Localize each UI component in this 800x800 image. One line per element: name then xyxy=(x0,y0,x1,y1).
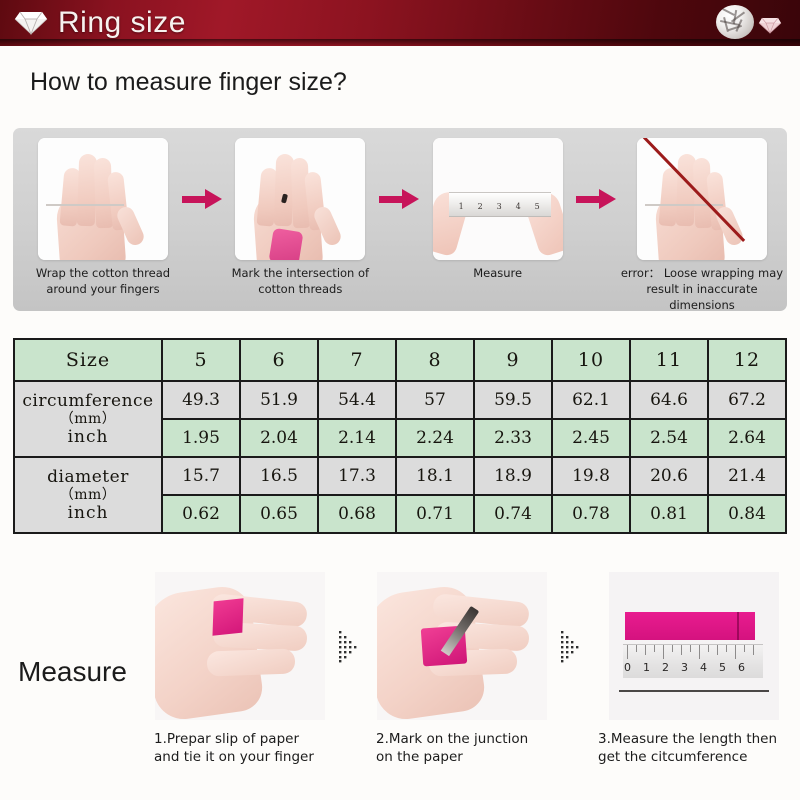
row-label-diameter-unit: （mm） xyxy=(15,487,161,504)
ruler-tick-4: 4 xyxy=(700,661,707,674)
hand-marking-thread-photo xyxy=(235,138,365,260)
cell-circumference-mm-8: 57 xyxy=(396,381,474,419)
cell-diameter-mm-7: 17.3 xyxy=(318,457,396,495)
row-label-diameter-main: diameter xyxy=(47,467,129,487)
tape-number: 2 xyxy=(478,202,483,211)
step-2: Mark the intersection of cotton threads xyxy=(222,138,378,298)
measure-step-1-caption: 1.Prepar slip of paper and tie it on you… xyxy=(150,730,330,766)
measure-steps-panel: Wrap the cotton thread around your finge… xyxy=(13,128,787,311)
cell-circumference-inch-12: 2.64 xyxy=(708,419,786,457)
table-header-size-8: 8 xyxy=(396,339,474,381)
measure-section-title: Measure xyxy=(18,656,127,688)
measure-section: Measure 1.Prepar slip of paper and tie i… xyxy=(0,560,800,800)
measure-step-1-line2: and tie it on your finger xyxy=(154,748,330,766)
hand-with-thread-photo xyxy=(38,138,168,260)
cell-circumference-inch-9: 2.33 xyxy=(474,419,552,457)
cell-circumference-inch-11: 2.54 xyxy=(630,419,708,457)
step-1-caption-line1: Wrap the cotton thread xyxy=(25,266,181,282)
cell-diameter-mm-12: 21.4 xyxy=(708,457,786,495)
page-title: Ring size xyxy=(58,8,186,38)
row-label-circumference: circumference （mm） inch xyxy=(14,381,162,457)
step-1-caption-line2: around your fingers xyxy=(25,282,181,298)
step-4-caption-line1: error： Loose wrapping may xyxy=(617,266,787,282)
measure-step-2-line2: on the paper xyxy=(376,748,552,766)
tape-number: 5 xyxy=(535,202,540,211)
tape-number: 4 xyxy=(516,202,521,211)
ruler-tick-0: 0 xyxy=(624,661,631,674)
step-4-caption-line2: result in inaccurate dimensions xyxy=(617,282,787,314)
cell-diameter-mm-11: 20.6 xyxy=(630,457,708,495)
table-header-size-9: 9 xyxy=(474,339,552,381)
paper-strip-on-ruler-photo: 0 1 2 3 4 5 6 xyxy=(609,572,779,720)
measure-step-3-line1: 3.Measure the length then xyxy=(598,730,794,748)
measure-step-1: 1.Prepar slip of paper and tie it on you… xyxy=(150,572,330,766)
measure-step-3-line2: get the citcumference xyxy=(598,748,794,766)
cell-diameter-mm-10: 19.8 xyxy=(552,457,630,495)
table-header-size-10: 10 xyxy=(552,339,630,381)
table-row-circumference-mm: circumference （mm） inch 49.3 51.9 54.4 5… xyxy=(14,381,786,419)
cell-circumference-mm-7: 54.4 xyxy=(318,381,396,419)
measure-step-2-line1: 2.Mark on the junction xyxy=(376,730,552,748)
measure-step-2: 2.Mark on the junction on the paper xyxy=(372,572,552,766)
cell-diameter-inch-5: 0.62 xyxy=(162,495,240,533)
cell-circumference-mm-11: 64.6 xyxy=(630,381,708,419)
ruler-tick-2: 2 xyxy=(662,661,669,674)
diamond-photo xyxy=(716,5,754,39)
step-4-caption: error： Loose wrapping may result in inac… xyxy=(617,266,787,314)
cell-circumference-mm-9: 59.5 xyxy=(474,381,552,419)
cell-diameter-inch-7: 0.68 xyxy=(318,495,396,533)
cell-diameter-inch-8: 0.71 xyxy=(396,495,474,533)
cell-diameter-inch-12: 0.84 xyxy=(708,495,786,533)
ruler-tick-3: 3 xyxy=(681,661,688,674)
arrow-3 xyxy=(576,138,617,260)
header-right-graphics xyxy=(708,2,790,44)
step-3-caption-line1: Measure xyxy=(420,266,576,282)
dotted-arrow-right-icon xyxy=(330,572,372,720)
cell-circumference-mm-6: 51.9 xyxy=(240,381,318,419)
dotted-arrow-right-icon xyxy=(552,572,594,720)
section-title: How to measure finger size? xyxy=(30,68,800,97)
table-header-size-7: 7 xyxy=(318,339,396,381)
row-label-circumference-inch: inch xyxy=(15,427,161,447)
cell-diameter-mm-6: 16.5 xyxy=(240,457,318,495)
page-header: Ring size xyxy=(0,0,800,46)
diamond-icon xyxy=(14,10,48,36)
loose-wrapping-error-photo xyxy=(637,138,767,260)
arrow-2 xyxy=(378,138,419,260)
step-1: Wrap the cotton thread around your finge… xyxy=(25,138,181,298)
step-1-caption: Wrap the cotton thread around your finge… xyxy=(25,266,181,298)
step-3: 1 2 3 4 5 Measure xyxy=(420,138,576,282)
ruler-tick-5: 5 xyxy=(719,661,726,674)
row-label-diameter-inch: inch xyxy=(15,503,161,523)
cell-diameter-inch-9: 0.74 xyxy=(474,495,552,533)
table-header-size-12: 12 xyxy=(708,339,786,381)
row-label-diameter: diameter （mm） inch xyxy=(14,457,162,533)
table-row-diameter-mm: diameter （mm） inch 15.7 16.5 17.3 18.1 1… xyxy=(14,457,786,495)
cell-circumference-inch-8: 2.24 xyxy=(396,419,474,457)
table-header-size-5: 5 xyxy=(162,339,240,381)
table-header-size-11: 11 xyxy=(630,339,708,381)
cell-diameter-inch-11: 0.81 xyxy=(630,495,708,533)
cell-circumference-mm-12: 67.2 xyxy=(708,381,786,419)
cell-diameter-inch-10: 0.78 xyxy=(552,495,630,533)
row-label-circumference-unit: （mm） xyxy=(15,411,161,428)
cell-circumference-inch-6: 2.04 xyxy=(240,419,318,457)
measure-step-3: 0 1 2 3 4 5 6 3.Measure the length then … xyxy=(594,572,794,766)
table-header-size-6: 6 xyxy=(240,339,318,381)
arrow-right-icon xyxy=(576,189,616,209)
cell-circumference-inch-7: 2.14 xyxy=(318,419,396,457)
table-header-size: Size xyxy=(14,339,162,381)
measure-step-3-caption: 3.Measure the length then get the citcum… xyxy=(594,730,794,766)
table-header-row: Size 5 6 7 8 9 10 11 12 xyxy=(14,339,786,381)
ruler-tick-6: 6 xyxy=(738,661,745,674)
measure-step-2-caption: 2.Mark on the junction on the paper xyxy=(372,730,552,766)
cell-diameter-inch-6: 0.65 xyxy=(240,495,318,533)
step-3-caption: Measure xyxy=(420,266,576,282)
ring-size-table: Size 5 6 7 8 9 10 11 12 circumference （m… xyxy=(13,338,787,534)
cell-circumference-mm-5: 49.3 xyxy=(162,381,240,419)
cell-diameter-mm-9: 18.9 xyxy=(474,457,552,495)
arrow-1 xyxy=(181,138,222,260)
measure-steps-row: 1.Prepar slip of paper and tie it on you… xyxy=(150,572,794,766)
ruler-tick-1: 1 xyxy=(643,661,650,674)
tape-measure-photo: 1 2 3 4 5 xyxy=(433,138,563,260)
cell-circumference-mm-10: 62.1 xyxy=(552,381,630,419)
row-label-circumference-main: circumference xyxy=(22,391,153,411)
step-2-caption-line1: Mark the intersection of xyxy=(222,266,378,282)
ruler: 0 1 2 3 4 5 6 xyxy=(623,644,763,678)
arrow-right-icon xyxy=(182,189,222,209)
cell-circumference-inch-5: 1.95 xyxy=(162,419,240,457)
cell-diameter-mm-5: 15.7 xyxy=(162,457,240,495)
step-2-caption-line2: cotton threads xyxy=(222,282,378,298)
marking-paper-with-pen-photo xyxy=(377,572,547,720)
cell-circumference-inch-10: 2.45 xyxy=(552,419,630,457)
step-2-caption: Mark the intersection of cotton threads xyxy=(222,266,378,298)
finger-with-paper-slip-photo xyxy=(155,572,325,720)
tape-number: 1 xyxy=(459,202,464,211)
small-diamond-icon xyxy=(758,16,782,35)
step-4: error： Loose wrapping may result in inac… xyxy=(617,138,787,314)
cell-diameter-mm-8: 18.1 xyxy=(396,457,474,495)
tape-number: 3 xyxy=(497,202,502,211)
arrow-right-icon xyxy=(379,189,419,209)
measure-step-1-line1: 1.Prepar slip of paper xyxy=(154,730,330,748)
